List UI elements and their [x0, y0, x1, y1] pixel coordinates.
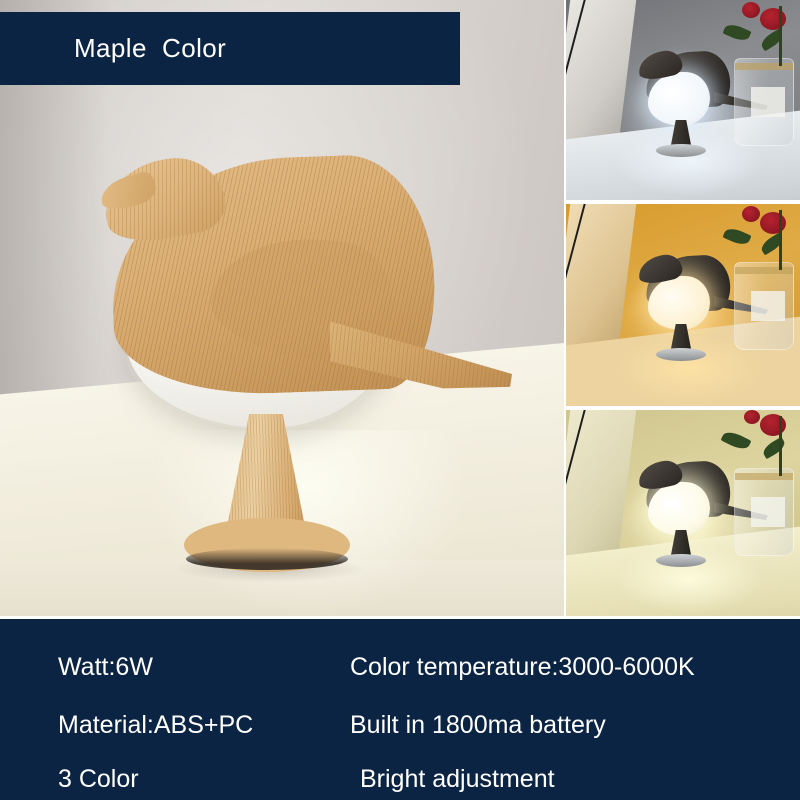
scene-rose-stem — [779, 210, 782, 270]
jar-ring — [735, 473, 793, 480]
spec-battery: Built in 1800ma battery — [350, 711, 606, 740]
jar-ring — [735, 267, 793, 274]
scene-flower-jar — [734, 262, 794, 350]
scene-rose — [760, 212, 786, 234]
banner-label: Maple Color — [0, 33, 226, 64]
jar-ring — [735, 63, 793, 70]
neutral-white-light-scene — [566, 410, 800, 616]
lighting-mode-panel-stack — [566, 0, 800, 616]
scene-lamp-glowing-belly — [648, 482, 710, 536]
curtain-cord — [566, 204, 587, 331]
lamp-base-rim — [186, 548, 348, 570]
scene-lamp-base — [656, 348, 706, 361]
scene-rose — [760, 414, 786, 436]
scene-lamp-glowing-belly — [648, 276, 710, 330]
main-product-photo — [0, 0, 564, 616]
spec-color-temperature: Color temperature:3000-6000K — [350, 653, 695, 682]
spec-watt: Watt:6W — [0, 653, 350, 682]
scene-rose — [744, 410, 760, 424]
spec-row: Material:ABS+PC Built in 1800ma battery — [0, 703, 800, 747]
scene-rose-stem — [779, 416, 782, 476]
jar-label — [751, 497, 785, 527]
maple-color-banner: Maple Color — [0, 12, 460, 85]
spec-brightness: Bright adjustment — [350, 765, 555, 794]
scene-rose — [760, 8, 786, 30]
scene-rose-stem — [779, 6, 782, 66]
cool-white-light-scene — [566, 0, 800, 200]
spec-color-count: 3 Color — [0, 765, 350, 794]
scene-flower-jar — [734, 58, 794, 146]
curtain-cord — [566, 410, 587, 537]
spec-row: Watt:6W Color temperature:3000-6000K — [0, 645, 800, 689]
scene-lamp-base — [656, 144, 706, 157]
warm-amber-light-scene — [566, 204, 800, 406]
scene-flower-jar — [734, 468, 794, 556]
specification-panel: Watt:6W Color temperature:3000-6000K Mat… — [0, 619, 800, 800]
jar-label — [751, 87, 785, 117]
scene-lamp-glowing-belly — [648, 72, 710, 126]
scene-rose — [742, 206, 760, 222]
spec-material: Material:ABS+PC — [0, 711, 350, 740]
curtain-cord — [566, 0, 587, 127]
scene-rose — [742, 2, 760, 18]
product-image-page: Maple Color — [0, 0, 800, 800]
scene-lamp-base — [656, 554, 706, 567]
spec-row: 3 Color Bright adjustment — [0, 757, 800, 801]
jar-label — [751, 291, 785, 321]
